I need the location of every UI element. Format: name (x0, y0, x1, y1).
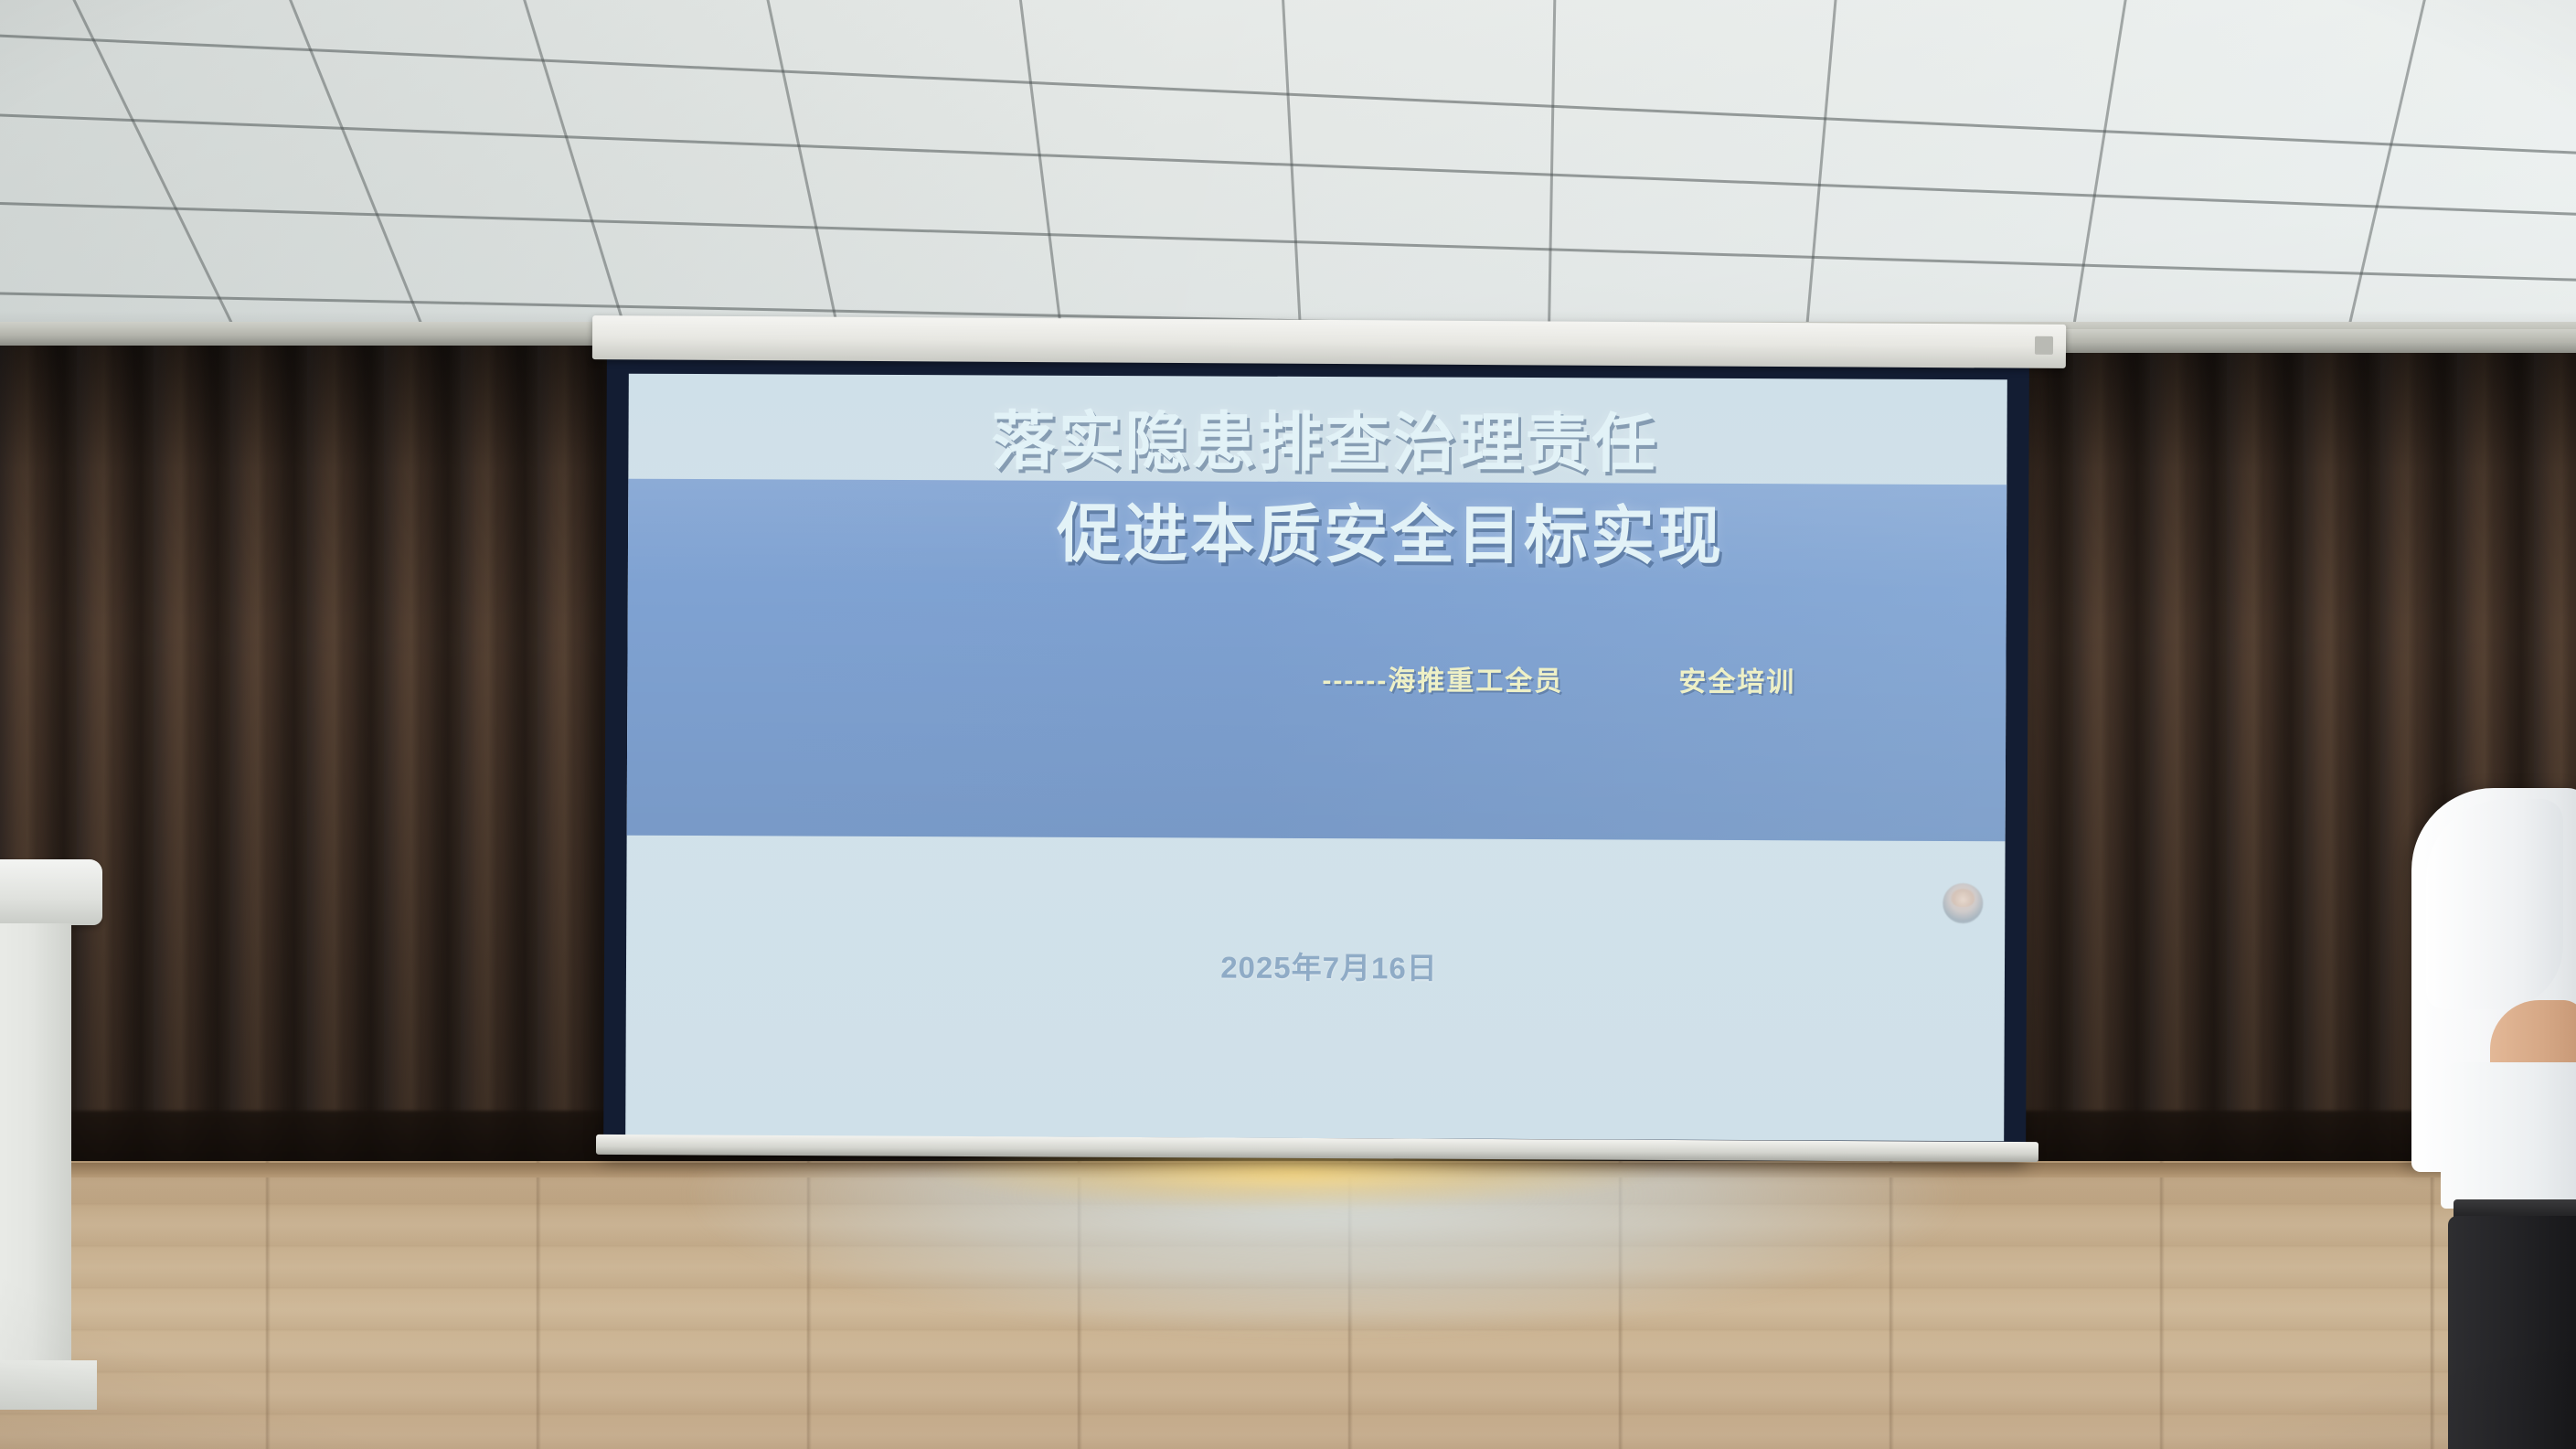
projection-screen: 落实隐患排查治理责任 促进本质安全目标实现 ------海推重工全员 安全培训 … (603, 356, 2029, 1160)
curtain-rail-right (2020, 329, 2576, 353)
slide-title-line-1: 落实隐患排查治理责任 (628, 394, 2007, 492)
person-sleeve (2426, 799, 2563, 1009)
slide-title-line-2: 促进本质安全目标实现 (628, 486, 2007, 584)
slide-title-block: 落实隐患排查治理责任 促进本质安全目标实现 (628, 374, 2007, 584)
ceiling-tiles (0, 0, 2576, 375)
slide-date: 2025年7月16日 (626, 941, 2005, 991)
meeting-room-scene: 落实隐患排查治理责任 促进本质安全目标实现 ------海推重工全员 安全培训 … (0, 0, 2576, 1449)
lectern-top (0, 859, 102, 925)
slide-subtitle-row: ------海推重工全员 安全培训 (627, 655, 2006, 701)
projection-screen-housing[interactable] (592, 315, 2066, 368)
avatar-watermark-icon (1943, 883, 1983, 923)
lectern-base (0, 1360, 97, 1410)
lectern-body (0, 923, 71, 1380)
slide-subtitle-right: 安全培训 (1678, 659, 1795, 700)
slide-subtitle-left: ------海推重工全员 (1322, 657, 1563, 698)
lectern (0, 859, 102, 1449)
standing-person (2375, 788, 2576, 1449)
housing-end-cap (2035, 336, 2053, 355)
presentation-slide: 落实隐患排查治理责任 促进本质安全目标实现 ------海推重工全员 安全培训 … (625, 374, 2007, 1142)
person-trousers (2448, 1216, 2576, 1449)
person-shirt-lower (2441, 1062, 2576, 1209)
